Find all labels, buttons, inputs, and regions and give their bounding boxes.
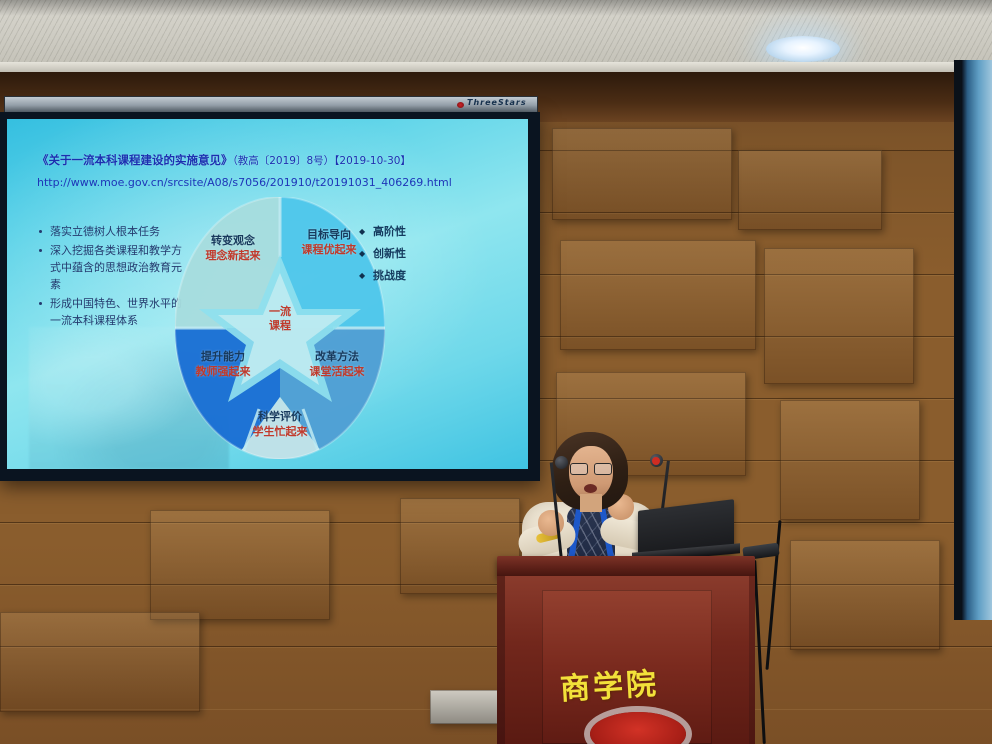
slide-source-url: http://www.moe.gov.cn/srcsite/A08/s7056/… [37,176,452,189]
wall-panel [560,240,756,350]
lens-left [570,463,588,475]
wall-panel [738,150,882,230]
podium-surface [497,556,755,578]
slide-right-bullet-list: 高阶性 创新性 挑战度 [359,221,406,287]
screen-housing: ThreeStars [4,96,538,113]
list-item: 创新性 [359,243,406,265]
list-item: 高阶性 [359,221,406,243]
screen-frame: 《关于一流本科课程建设的实施意见》（教高〔2019〕8号）【2019-10-30… [0,112,540,481]
wall-panel [0,612,200,712]
segment-title: 转变观念 [211,234,255,247]
wall-panel [780,400,920,520]
slide-title-main: 《关于一流本科课程建设的实施意见》 [37,153,233,167]
center-line-1: 一流 [269,305,291,318]
list-item: 深入挖掘各类课程和教学方式中蕴含的思想政治教育元素 [37,242,187,293]
diagram-center-label: 一流 课程 [231,305,329,333]
segment-title: 科学评价 [258,410,302,423]
segment-subtitle: 教师强起来 [181,364,265,379]
wall-panel [150,510,330,620]
slide-left-bullet-list: 落实立德树人根本任务 深入挖掘各类课程和教学方式中蕴含的思想政治教育元素 形成中… [37,223,187,331]
wall-outlet[interactable] [430,690,500,724]
segment-subtitle: 理念新起来 [191,248,275,263]
podium-institution-text: 商学院 [559,656,714,716]
segment-label-top-left: 转变观念 理念新起来 [191,233,275,263]
star-diagram: 转变观念 理念新起来 目标导向 课程优起来 提升能力 教师强起来 改革方法 课堂… [175,197,385,459]
screen-brand-label: ThreeStars [467,98,527,107]
ceiling-downlight-icon [766,36,840,62]
wall-panel [764,248,914,384]
door-edge [954,60,962,620]
segment-label-left: 提升能力 教师强起来 [181,349,265,379]
segment-subtitle: 学生忙起来 [238,424,322,439]
segment-label-bottom: 科学评价 学生忙起来 [238,409,322,439]
list-item: 挑战度 [359,265,406,287]
segment-title: 提升能力 [201,350,245,363]
projection-screen: ThreeStars 《关于一流本科课程建设的实施意见》（教高〔2019〕8号）… [0,96,540,481]
glasses-icon [570,463,612,473]
center-line-2: 课程 [269,319,291,332]
microphone-head-left [555,456,568,469]
presentation-slide: 《关于一流本科课程建设的实施意见》（教高〔2019〕8号）【2019-10-30… [7,119,528,469]
ceiling-shadow [0,0,992,16]
slide-title-date: 【2019-10-30】 [334,155,411,167]
segment-subtitle: 课堂活起来 [295,364,379,379]
microphone-indicator-icon [652,457,660,465]
list-item: 形成中国特色、世界水平的一流本科课程体系 [37,295,187,329]
speaker-neck [580,494,602,512]
wall-panel [552,128,732,220]
brand-logo-icon [457,102,464,108]
segment-label-right: 改革方法 课堂活起来 [295,349,379,379]
list-item: 落实立德树人根本任务 [37,223,187,240]
slide-title: 《关于一流本科课程建设的实施意见》（教高〔2019〕8号）【2019-10-30… [37,152,411,168]
speaker-mouth [584,484,597,493]
lens-right [594,463,612,475]
segment-title: 改革方法 [315,350,359,363]
blue-door[interactable] [962,60,992,620]
lecture-hall-photo: ThreeStars 《关于一流本科课程建设的实施意见》（教高〔2019〕8号）… [0,0,992,744]
wall-panel [790,540,940,650]
segment-title: 目标导向 [307,228,351,241]
slide-title-doc-no: （教高〔2019〕8号） [233,155,335,167]
